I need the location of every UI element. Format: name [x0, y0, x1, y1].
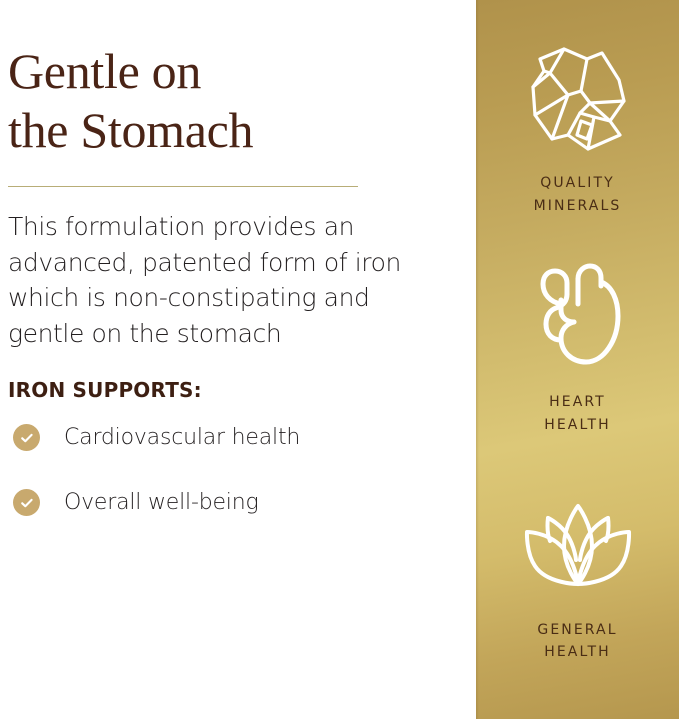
content-panel: Gentle on the Stomach This formulation p… [0, 0, 476, 719]
benefit-caption: HEART HEALTH [544, 391, 611, 436]
list-item: Cardiovascular health [8, 424, 476, 451]
headline-line-1: Gentle on [8, 42, 368, 101]
benefit-block-general-health: GENERAL HEALTH [476, 487, 679, 664]
benefit-caption: GENERAL HEALTH [537, 619, 617, 664]
benefit-caption-line-2: MINERALS [534, 195, 622, 218]
heart-icon [534, 259, 622, 377]
page-title: Gentle on the Stomach [8, 0, 368, 159]
headline-line-2: the Stomach [8, 101, 368, 160]
benefit-caption-line-2: HEALTH [537, 641, 617, 664]
product-benefits-infographic: Gentle on the Stomach This formulation p… [0, 0, 679, 719]
check-icon [13, 489, 40, 516]
list-item-label: Cardiovascular health [64, 425, 300, 450]
mineral-crystal-icon [524, 40, 632, 158]
benefit-caption-line-1: HEART [544, 391, 611, 414]
benefit-caption-line-1: GENERAL [537, 619, 617, 642]
benefit-caption-line-1: QUALITY [534, 172, 622, 195]
lotus-flower-icon [521, 487, 635, 605]
benefit-caption-line-2: HEALTH [544, 414, 611, 437]
benefit-block-heart-health: HEART HEALTH [476, 259, 679, 436]
description-text: This formulation provides an advanced, p… [8, 187, 418, 351]
list-item-label: Overall well-being [64, 490, 258, 515]
supports-list: Cardiovascular health Overall well-being [8, 402, 476, 516]
gold-benefits-panel: QUALITY MINERALS [476, 0, 679, 719]
benefit-caption: QUALITY MINERALS [534, 172, 622, 217]
list-item: Overall well-being [8, 489, 476, 516]
supports-heading: IRON SUPPORTS: [8, 351, 476, 402]
benefit-block-quality-minerals: QUALITY MINERALS [476, 40, 679, 217]
check-icon [13, 424, 40, 451]
